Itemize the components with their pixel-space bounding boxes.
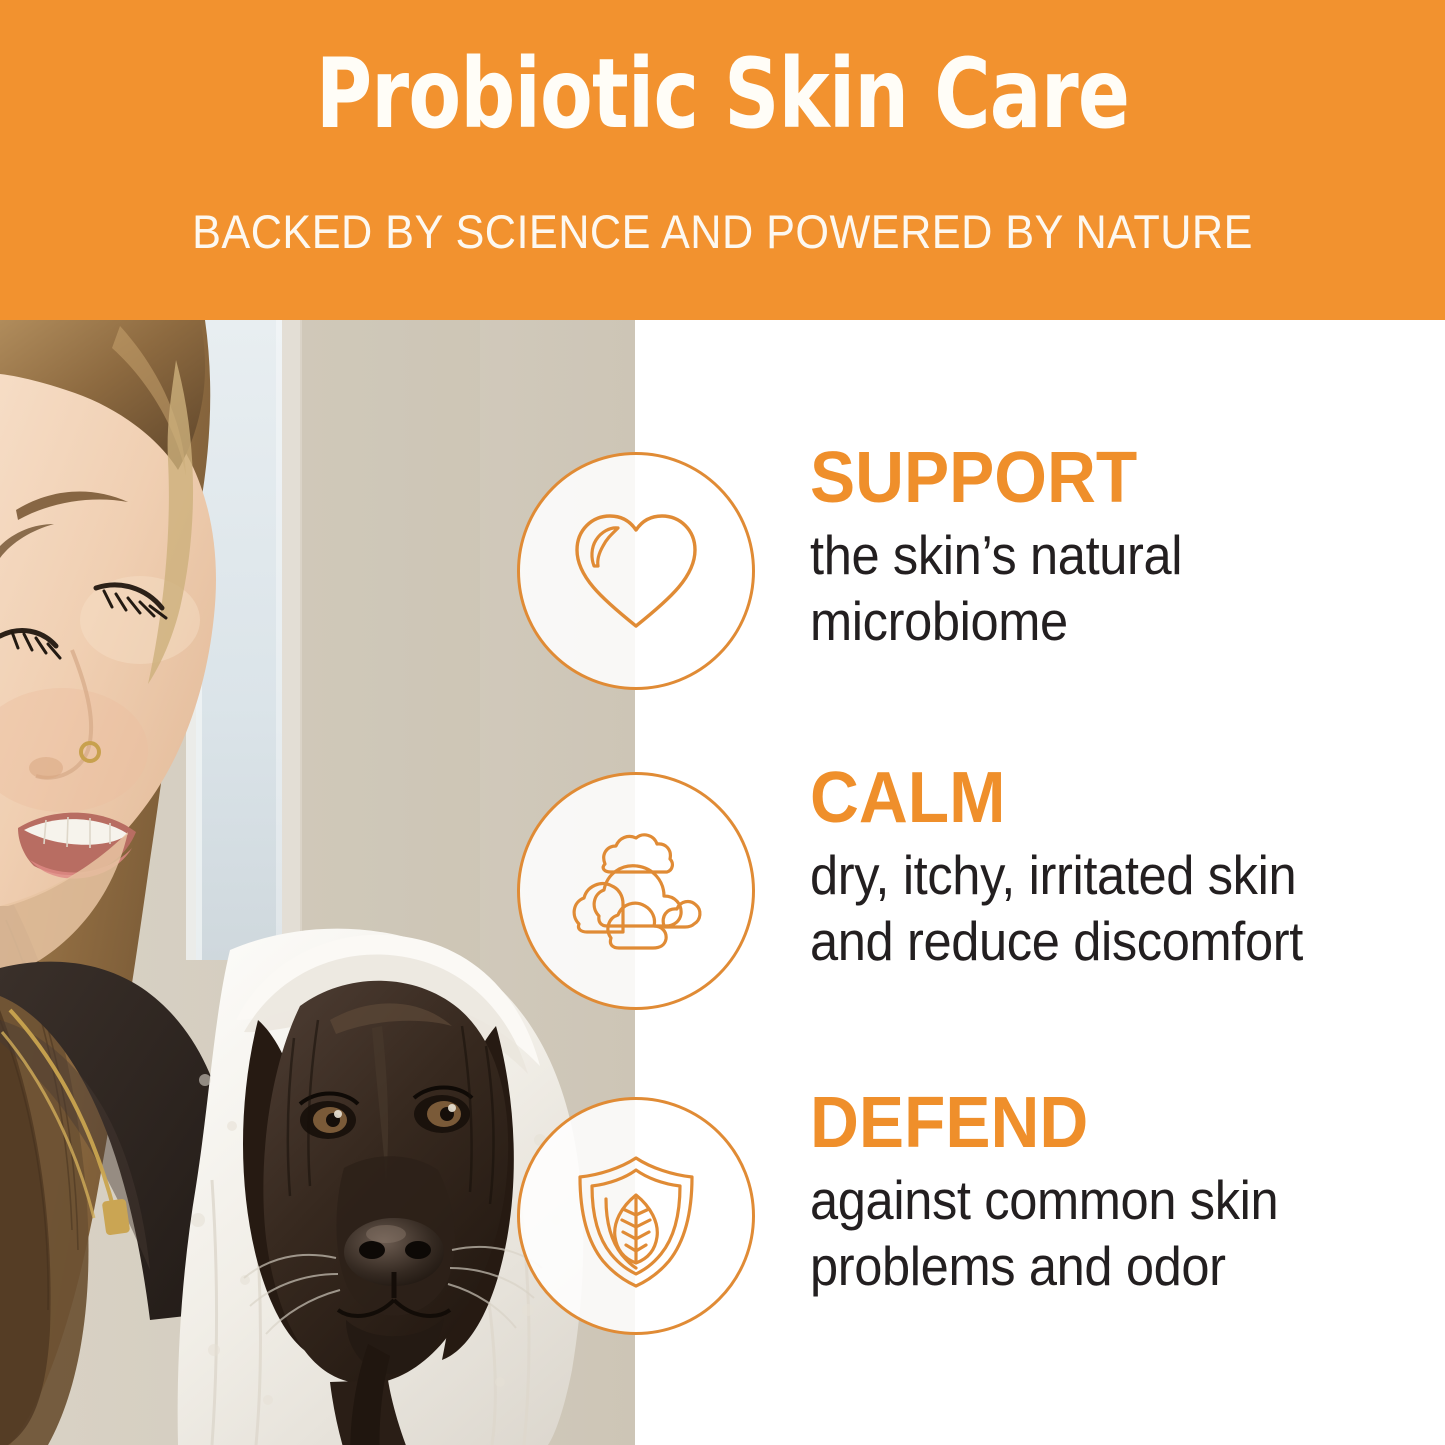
feature-text-calm: CALM dry, itchy, irritated skin and redu… bbox=[810, 760, 1440, 974]
feature-heading-support: SUPPORT bbox=[810, 440, 1402, 516]
feature-body-line: and reduce discomfort bbox=[810, 908, 1390, 974]
page-title: Probiotic Skin Care bbox=[145, 42, 1301, 146]
feature-body-defend: against common skin problems and odor bbox=[810, 1167, 1390, 1299]
feature-body-line: dry, itchy, irritated skin bbox=[810, 842, 1390, 908]
feature-body-support: the skin’s natural microbiome bbox=[810, 522, 1390, 654]
feature-body-calm: dry, itchy, irritated skin and reduce di… bbox=[810, 842, 1390, 974]
page-subtitle: BACKED BY SCIENCE AND POWERED BY NATURE bbox=[58, 205, 1387, 259]
feature-body-line: the skin’s natural bbox=[810, 522, 1390, 588]
feature-heading-calm: CALM bbox=[810, 760, 1402, 836]
header-banner: Probiotic Skin Care BACKED BY SCIENCE AN… bbox=[0, 0, 1445, 320]
feature-text-defend: DEFEND against common skin problems and … bbox=[810, 1085, 1440, 1299]
infographic-page: Probiotic Skin Care BACKED BY SCIENCE AN… bbox=[0, 0, 1445, 1445]
feature-body-line: microbiome bbox=[810, 588, 1390, 654]
feature-body-line: against common skin bbox=[810, 1167, 1390, 1233]
shield-leaf-icon bbox=[517, 1097, 755, 1335]
clouds-icon bbox=[517, 772, 755, 1010]
feature-list: SUPPORT the skin’s natural microbiome bbox=[635, 320, 1445, 1445]
feature-heading-defend: DEFEND bbox=[810, 1085, 1402, 1161]
feature-text-support: SUPPORT the skin’s natural microbiome bbox=[810, 440, 1440, 654]
feature-body-line: problems and odor bbox=[810, 1233, 1390, 1299]
heart-icon bbox=[517, 452, 755, 690]
